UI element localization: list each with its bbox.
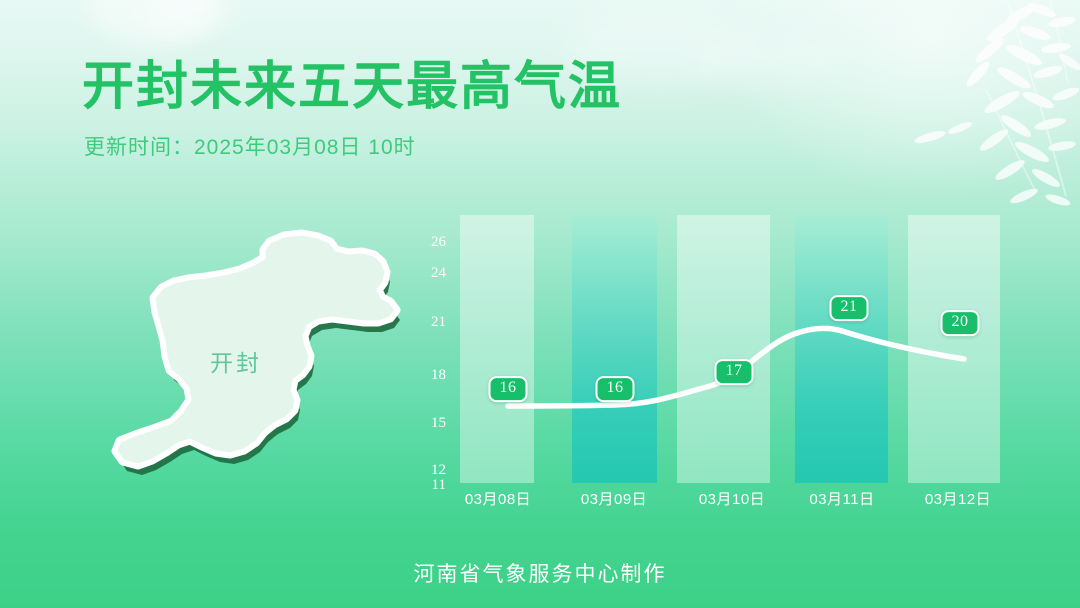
data-point-badge: 21 (830, 295, 869, 321)
data-point-badge: 17 (715, 359, 754, 385)
x-axis-tick-label: 03月12日 (925, 488, 991, 509)
data-point-badge: 20 (941, 310, 980, 336)
data-point-badge: 16 (596, 376, 635, 402)
data-point-badge: 16 (489, 376, 528, 402)
region-map: 开封 (78, 222, 428, 494)
page-title: 开封未来五天最高气温 (82, 58, 622, 116)
cloud-icon (690, 34, 840, 88)
temperature-chart: 26 24 21 18 15 12 11 16 16 17 21 20 03月0… (412, 200, 1022, 520)
willow-branch-icon (890, 0, 1080, 215)
update-time: 更新时间：2025年03月08日 10时 (84, 131, 416, 161)
map-region-label: 开封 (78, 344, 428, 378)
footer-credit: 河南省气象服务中心制作 (0, 558, 1080, 588)
x-axis-tick-label: 03月11日 (809, 488, 874, 509)
x-axis-tick-label: 03月08日 (465, 488, 531, 509)
x-axis-tick-label: 03月10日 (699, 488, 765, 509)
x-axis-tick-label: 03月09日 (581, 488, 647, 509)
